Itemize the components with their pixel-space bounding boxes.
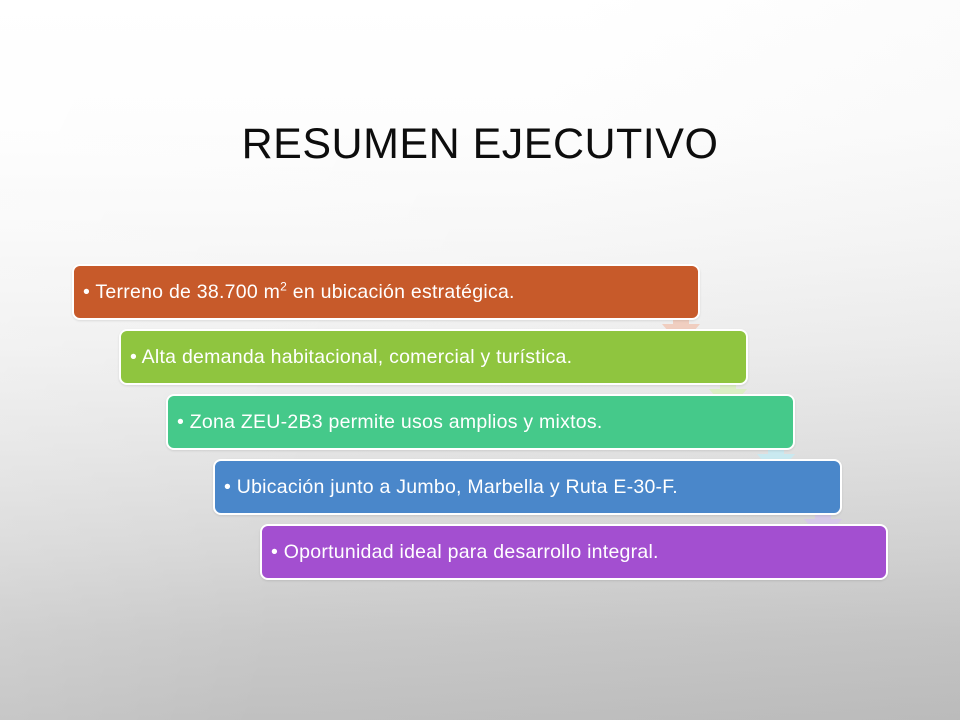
- chevron-item-label: • Ubicación junto a Jumbo, Marbella y Ru…: [215, 475, 692, 499]
- chevron-item-3[interactable]: • Zona ZEU-2B3 permite usos amplios y mi…: [166, 394, 795, 450]
- chevron-item-text: Oportunidad ideal para desarrollo integr…: [284, 541, 659, 563]
- chevron-item-4[interactable]: • Ubicación junto a Jumbo, Marbella y Ru…: [213, 459, 842, 515]
- chevron-item-label: • Zona ZEU-2B3 permite usos amplios y mi…: [168, 410, 617, 434]
- chevron-list: • Terreno de 38.700 m2 en ubicación estr…: [0, 0, 960, 720]
- chevron-item-2[interactable]: • Alta demanda habitacional, comercial y…: [119, 329, 748, 385]
- chevron-item-text: Alta demanda habitacional, comercial y t…: [142, 346, 573, 368]
- bullet-glyph: •: [130, 346, 137, 368]
- chevron-item-label: • Oportunidad ideal para desarrollo inte…: [262, 540, 673, 564]
- bullet-glyph: •: [177, 411, 184, 433]
- chevron-item-text: Zona ZEU-2B3 permite usos amplios y mixt…: [190, 411, 603, 433]
- chevron-item-text: Ubicación junto a Jumbo, Marbella y Ruta…: [237, 476, 678, 498]
- page-title: RESUMEN EJECUTIVO: [0, 118, 960, 170]
- chevron-item-5[interactable]: • Oportunidad ideal para desarrollo inte…: [260, 524, 888, 580]
- chevron-item-text-tail: en ubicación estratégica.: [287, 281, 515, 303]
- chevron-item-1[interactable]: • Terreno de 38.700 m2 en ubicación estr…: [72, 264, 700, 320]
- bullet-glyph: •: [224, 476, 231, 498]
- slide-canvas: RESUMEN EJECUTIVO • Terreno de 38.700 m2…: [0, 0, 960, 720]
- bullet-glyph: •: [271, 541, 278, 563]
- chevron-item-text: Terreno de 38.700 m: [95, 281, 280, 303]
- chevron-item-label: • Terreno de 38.700 m2 en ubicación estr…: [74, 280, 529, 304]
- bullet-glyph: •: [83, 281, 90, 303]
- chevron-item-label: • Alta demanda habitacional, comercial y…: [121, 345, 586, 369]
